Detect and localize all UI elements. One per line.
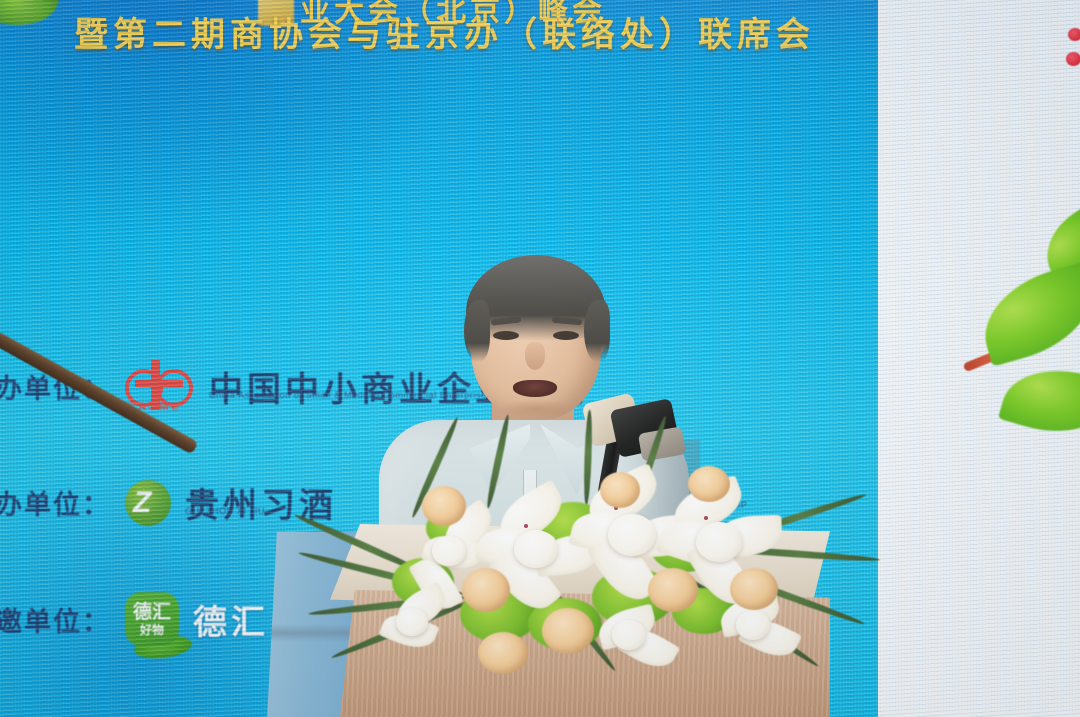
rose bbox=[462, 568, 510, 612]
flower-arrangement bbox=[300, 450, 860, 680]
speaker-eye-left bbox=[493, 331, 519, 340]
speaker-eye-right bbox=[553, 331, 579, 340]
speaker-mouth bbox=[513, 380, 557, 397]
speaker-hair-left bbox=[464, 300, 490, 362]
lily-stamen bbox=[524, 524, 528, 528]
rose bbox=[478, 632, 528, 674]
speaker-hair-right bbox=[584, 300, 610, 362]
screenshot-root: 业大会（北京）峰会 暨第二期商协会与驻京办（联络处）联席会 主办单位： CASM… bbox=[0, 0, 1080, 717]
rose bbox=[422, 486, 466, 526]
rose bbox=[542, 608, 594, 654]
lily-center bbox=[514, 530, 558, 568]
rose bbox=[688, 466, 730, 502]
lily-stamen bbox=[704, 516, 708, 520]
lily-center bbox=[608, 514, 656, 556]
lily-center bbox=[736, 610, 770, 640]
rose bbox=[730, 568, 778, 610]
lily-center bbox=[696, 522, 742, 562]
rose bbox=[648, 568, 698, 612]
speaker-chin-shadow bbox=[500, 400, 572, 418]
lily-center bbox=[432, 536, 466, 566]
rose bbox=[600, 472, 640, 508]
lily-center bbox=[396, 608, 428, 636]
lily-center bbox=[612, 620, 646, 650]
speaker-nose bbox=[525, 342, 545, 370]
